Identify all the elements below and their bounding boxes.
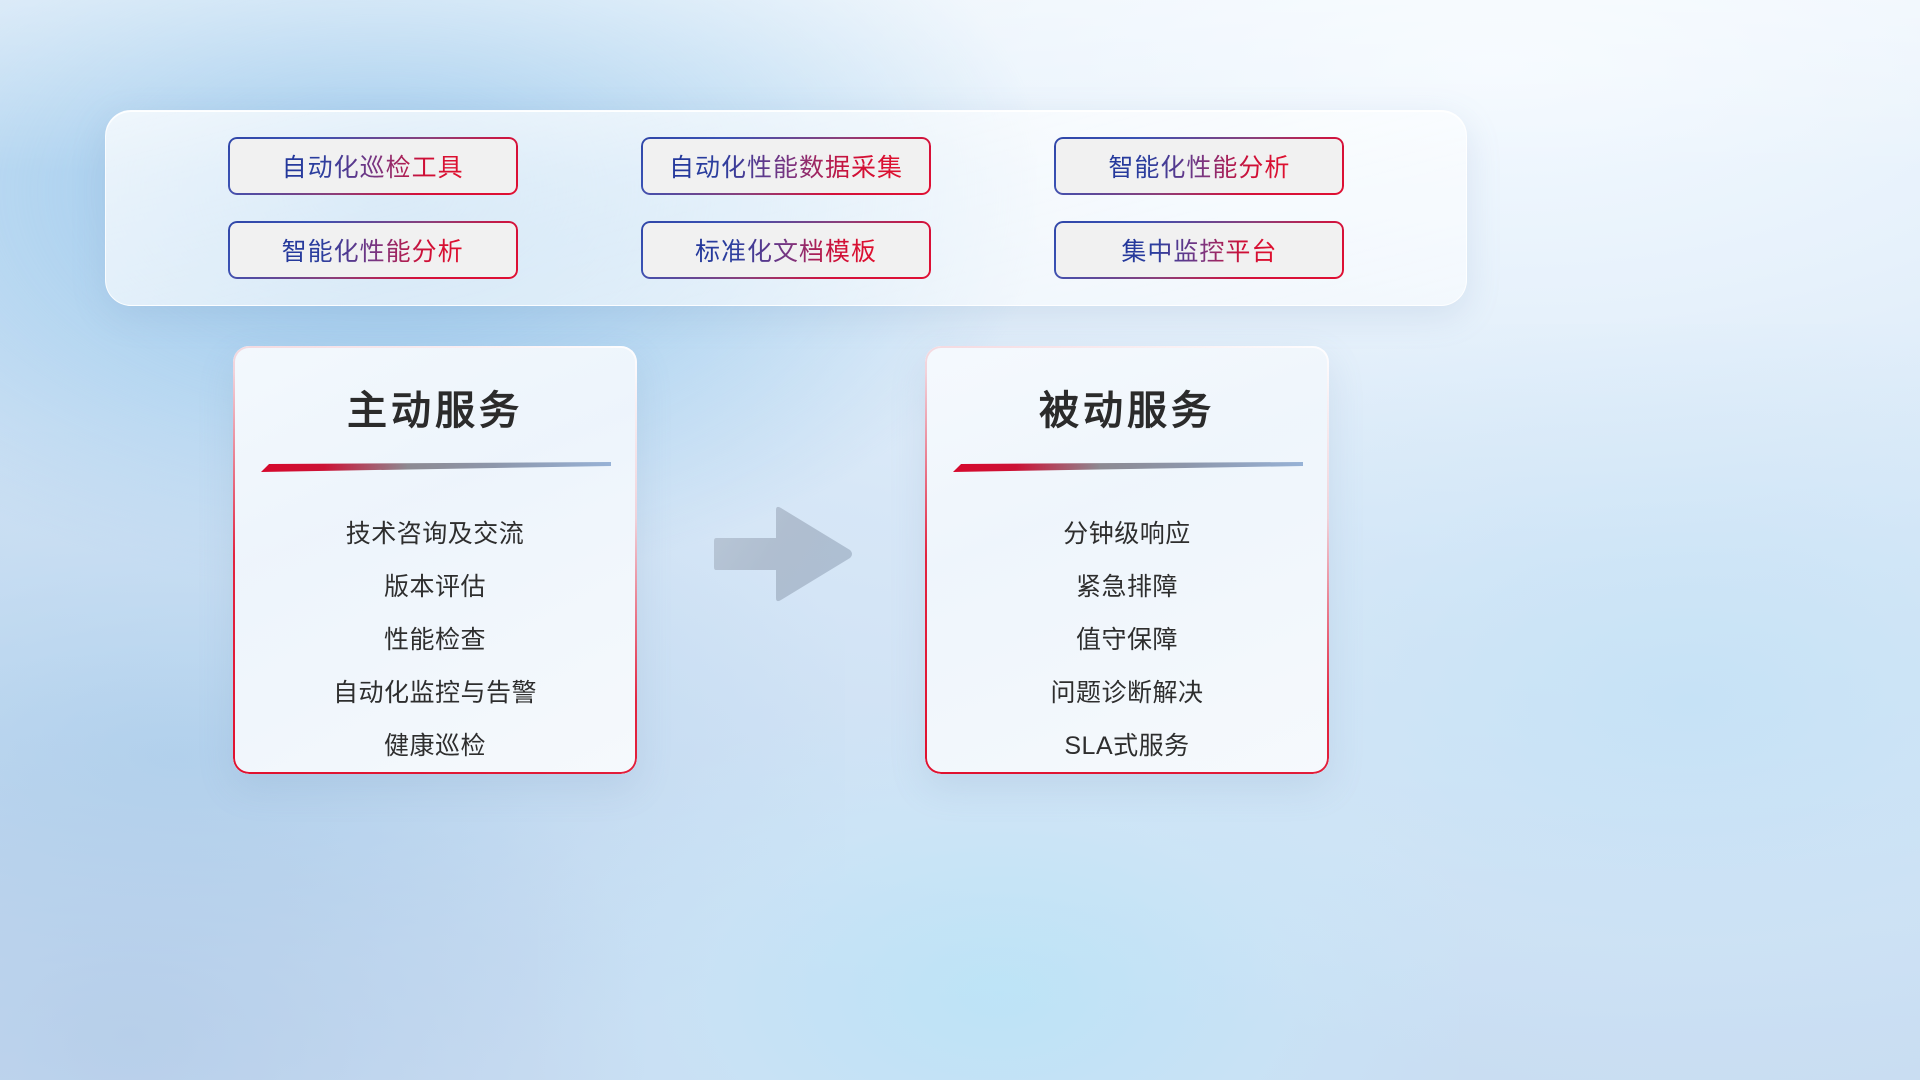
- capability-tag-label: 智能化性能分析: [1108, 148, 1290, 184]
- capability-tag-label: 智能化性能分析: [282, 232, 464, 268]
- service-list-item: 技术咨询及交流: [233, 508, 637, 561]
- capability-tag-label: 标准化文档模板: [695, 232, 877, 268]
- service-item-list: 分钟级响应 紧急排障 值守保障 问题诊断解决 SLA式服务: [925, 508, 1329, 773]
- title-divider-wrap: [233, 456, 637, 482]
- service-list-item: 值守保障: [925, 614, 1329, 667]
- service-list-item: 紧急排障: [925, 561, 1329, 614]
- capability-tag[interactable]: 标准化文档模板: [641, 221, 931, 279]
- service-card-active[interactable]: 主动服务 技术咨询及交流 版本评估 性能检查 自动化监控与告警 健: [233, 346, 637, 774]
- capability-tag[interactable]: 自动化性能数据采集: [641, 137, 931, 195]
- capability-tag[interactable]: 智能化性能分析: [1054, 137, 1344, 195]
- capability-tag-label: 自动化巡检工具: [282, 148, 464, 184]
- service-card-title: 被动服务: [925, 378, 1329, 436]
- service-list-item: 自动化监控与告警: [233, 667, 637, 720]
- service-list-item: 健康巡检: [233, 720, 637, 773]
- arrow-right-icon: [714, 504, 854, 604]
- capability-tag-panel: 自动化巡检工具 自动化性能数据采集 智能化性能分析 智能化性能分析 标准化文档模…: [105, 110, 1467, 306]
- capability-tag[interactable]: 自动化巡检工具: [228, 137, 518, 195]
- capability-tag[interactable]: 集中监控平台: [1054, 221, 1344, 279]
- capability-tag-label: 集中监控平台: [1121, 232, 1277, 268]
- service-list-item: 性能检查: [233, 614, 637, 667]
- service-list-item: 版本评估: [233, 561, 637, 614]
- service-item-list: 技术咨询及交流 版本评估 性能检查 自动化监控与告警 健康巡检: [233, 508, 637, 773]
- title-divider: [953, 462, 1303, 473]
- service-card-passive[interactable]: 被动服务 分钟级响应 紧急排障 值守保障 问题诊断解决 SLA式服: [925, 346, 1329, 774]
- service-card-title: 主动服务: [233, 378, 637, 436]
- service-list-item: 问题诊断解决: [925, 667, 1329, 720]
- capability-tag-label: 自动化性能数据采集: [669, 148, 903, 184]
- service-list-item: 分钟级响应: [925, 508, 1329, 561]
- capability-tag[interactable]: 智能化性能分析: [228, 221, 518, 279]
- title-divider: [261, 462, 611, 473]
- service-list-item: SLA式服务: [925, 720, 1329, 773]
- title-divider-wrap: [925, 456, 1329, 482]
